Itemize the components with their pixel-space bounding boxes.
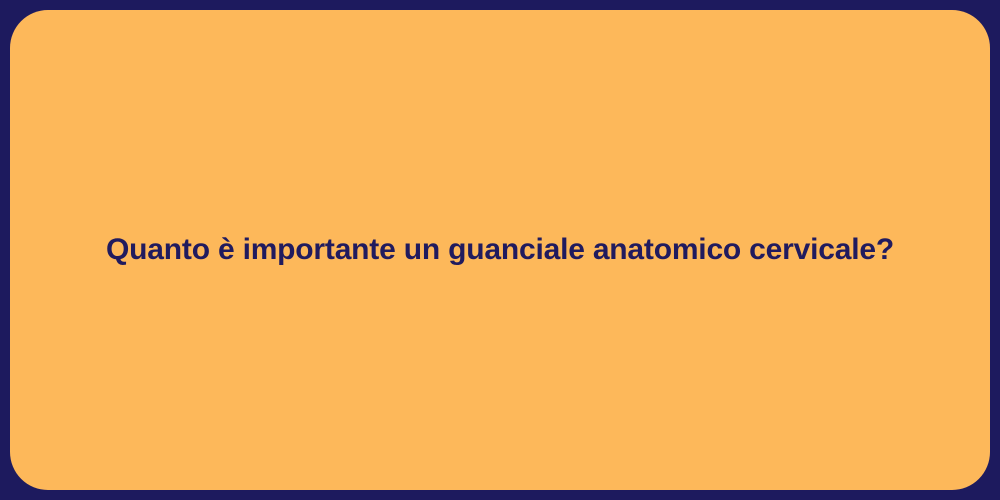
banner-panel: Quanto è importante un guanciale anatomi… [10, 10, 990, 490]
page-title: Quanto è importante un guanciale anatomi… [106, 231, 894, 269]
banner-outer-frame: Quanto è importante un guanciale anatomi… [0, 0, 1000, 500]
